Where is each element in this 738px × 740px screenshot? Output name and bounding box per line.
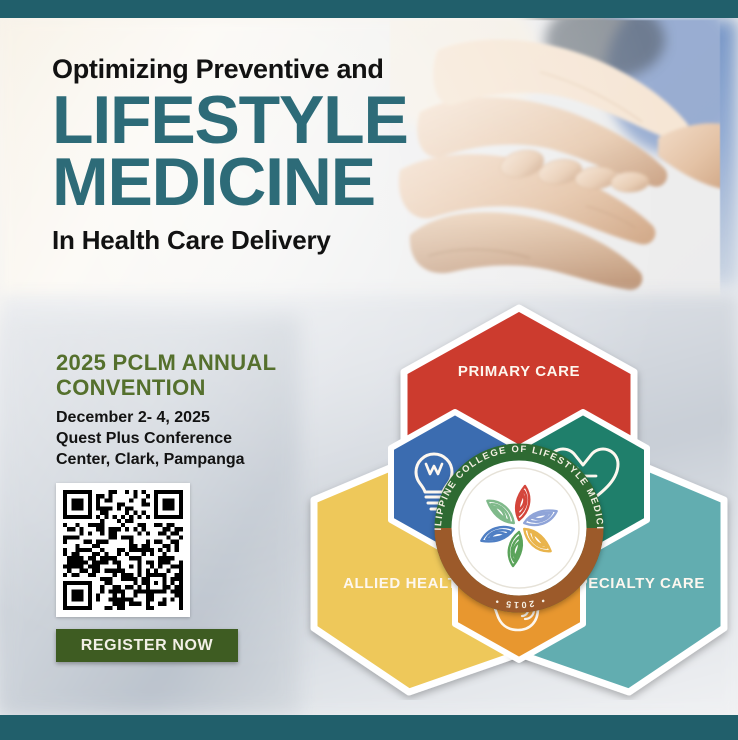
headline-block: Optimizing Preventive and LIFESTYLE MEDI…	[52, 55, 408, 254]
event-date: December 2- 4, 2025	[56, 407, 276, 428]
poster-canvas: Optimizing Preventive and LIFESTYLE MEDI…	[0, 0, 738, 740]
event-details-block: 2025 PCLM ANNUAL CONVENTION December 2- …	[56, 350, 276, 470]
headline-line-2: MEDICINE	[52, 151, 408, 214]
event-title-line-1: 2025 PCLM ANNUAL	[56, 350, 276, 375]
lifestyle-medicine-hexagon-diagram: PRIMARY CARE ALLIED HEALTH SPECIALTY CAR…	[300, 300, 738, 700]
event-venue-line-1: Quest Plus Conference	[56, 428, 276, 449]
hexagon-allied-health-label: ALLIED HEALTH	[343, 575, 469, 592]
hexagon-specialty-care-label: SPECIALTY CARE	[567, 575, 705, 592]
hexagon-primary-care-label: PRIMARY CARE	[458, 363, 580, 380]
headline-kicker: Optimizing Preventive and	[52, 55, 408, 85]
registration-qr-code[interactable]	[56, 483, 190, 617]
register-now-button[interactable]: REGISTER NOW	[56, 629, 238, 662]
qr-code-icon	[63, 490, 183, 610]
event-venue-line-2: Center, Clark, Pampanga	[56, 449, 276, 470]
headline-line-1: LIFESTYLE	[52, 89, 408, 152]
headline-subline: In Health Care Delivery	[52, 226, 408, 255]
event-title-line-2: CONVENTION	[56, 375, 276, 400]
bottom-accent-bar	[0, 715, 738, 740]
top-accent-bar	[0, 0, 738, 18]
